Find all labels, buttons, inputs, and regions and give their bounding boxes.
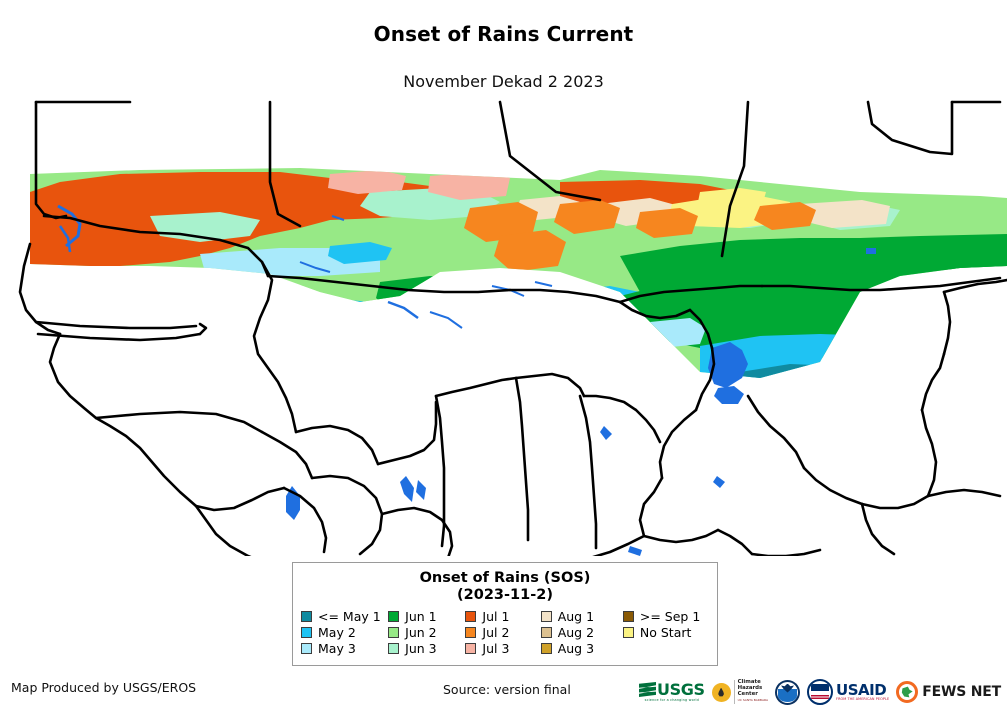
legend-label: Jul 1 — [482, 610, 509, 623]
legend-swatch — [388, 643, 399, 654]
usgs-logo: USGS science for a changing world — [639, 675, 705, 709]
legend-swatch — [623, 627, 634, 638]
legend-label: Aug 2 — [558, 626, 594, 639]
legend-label: Jun 3 — [405, 642, 436, 655]
legend-item[interactable]: Jul 3 — [465, 641, 540, 656]
map-credit: Map Produced by USGS/EROS — [11, 680, 196, 695]
legend-swatch — [388, 627, 399, 638]
legend-item[interactable]: Jul 1 — [465, 609, 540, 624]
legend-label: Jun 2 — [405, 626, 436, 639]
chc-logo: Climate Hazards Center UC SANTA BARBARA — [712, 675, 768, 709]
legend-swatch — [301, 611, 312, 622]
legend-column-may: <= May 1 May 2 May 3 — [301, 609, 388, 656]
legend-label: Jul 2 — [482, 626, 509, 639]
usaid-seal-icon — [807, 679, 833, 705]
legend-label: Aug 3 — [558, 642, 594, 655]
legend-label: >= Sep 1 — [640, 610, 700, 623]
map-canvas[interactable] — [0, 96, 1007, 556]
legend-item[interactable]: May 2 — [301, 625, 388, 640]
legend-label: Jul 3 — [482, 642, 509, 655]
legend-swatch — [623, 611, 634, 622]
legend-item[interactable]: Jul 2 — [465, 625, 540, 640]
usaid-wordmark: USAID — [836, 683, 889, 697]
legend-label: Aug 1 — [558, 610, 594, 623]
legend-columns: <= May 1 May 2 May 3 Jun 1 Ju — [293, 609, 717, 656]
legend-item[interactable]: <= May 1 — [301, 609, 388, 624]
legend-item[interactable]: Aug 1 — [541, 609, 623, 624]
legend-item[interactable]: Jun 3 — [388, 641, 465, 656]
legend-label: Jun 1 — [405, 610, 436, 623]
water-drop-icon — [712, 683, 731, 702]
usgs-wave-icon — [639, 682, 656, 697]
legend-label: No Start — [640, 626, 692, 639]
legend-item[interactable]: Jun 1 — [388, 609, 465, 624]
legend-swatch — [301, 643, 312, 654]
legend-swatch — [465, 627, 476, 638]
usaid-tagline: FROM THE AMERICAN PEOPLE — [836, 697, 889, 701]
fews-wordmark: FEWS NET — [922, 684, 1001, 700]
legend-column-aug: Aug 1 Aug 2 Aug 3 — [541, 609, 623, 656]
usgs-wordmark: USGS — [657, 682, 705, 697]
page-subtitle: November Dekad 2 2023 — [0, 72, 1007, 91]
legend-column-jul: Jul 1 Jul 2 Jul 3 — [465, 609, 540, 656]
legend-item[interactable]: Jun 2 — [388, 625, 465, 640]
legend-item[interactable]: Aug 3 — [541, 641, 623, 656]
legend-swatch — [465, 611, 476, 622]
legend-item[interactable]: No Start — [623, 625, 717, 640]
legend-swatch — [541, 643, 552, 654]
legend-date: (2023-11-2) — [293, 587, 717, 604]
legend-column-jun: Jun 1 Jun 2 Jun 3 — [388, 609, 465, 656]
globe-icon — [896, 681, 918, 703]
logo-strip: USGS science for a changing world Climat… — [639, 674, 1001, 710]
legend-swatch — [541, 627, 552, 638]
legend-swatch — [388, 611, 399, 622]
legend-item[interactable]: Aug 2 — [541, 625, 623, 640]
usgs-tagline: science for a changing world — [639, 698, 705, 702]
map-graphic — [0, 96, 1007, 556]
page-title: Onset of Rains Current — [0, 22, 1007, 46]
legend-label: May 2 — [318, 626, 356, 639]
legend-label: May 3 — [318, 642, 356, 655]
legend-title: Onset of Rains (SOS) — [293, 570, 717, 587]
usaid-logo: USAID FROM THE AMERICAN PEOPLE — [807, 675, 889, 709]
source-text: Source: version final — [443, 682, 571, 697]
map-page: Onset of Rains Current November Dekad 2 … — [0, 0, 1007, 715]
legend-swatch — [465, 643, 476, 654]
fews-net-logo: FEWS NET — [896, 675, 1001, 709]
noaa-logo — [775, 675, 800, 709]
legend-column-sep: >= Sep 1 No Start — [623, 609, 717, 640]
legend-swatch — [541, 611, 552, 622]
legend-item[interactable]: May 3 — [301, 641, 388, 656]
map-legend: Onset of Rains (SOS) (2023-11-2) <= May … — [292, 562, 718, 666]
legend-label: <= May 1 — [318, 610, 381, 623]
chc-sub: UC SANTA BARBARA — [738, 698, 768, 704]
noaa-seal-icon — [775, 680, 800, 705]
chc-line3: Center — [738, 692, 768, 698]
legend-swatch — [301, 627, 312, 638]
legend-item[interactable]: >= Sep 1 — [623, 609, 717, 624]
